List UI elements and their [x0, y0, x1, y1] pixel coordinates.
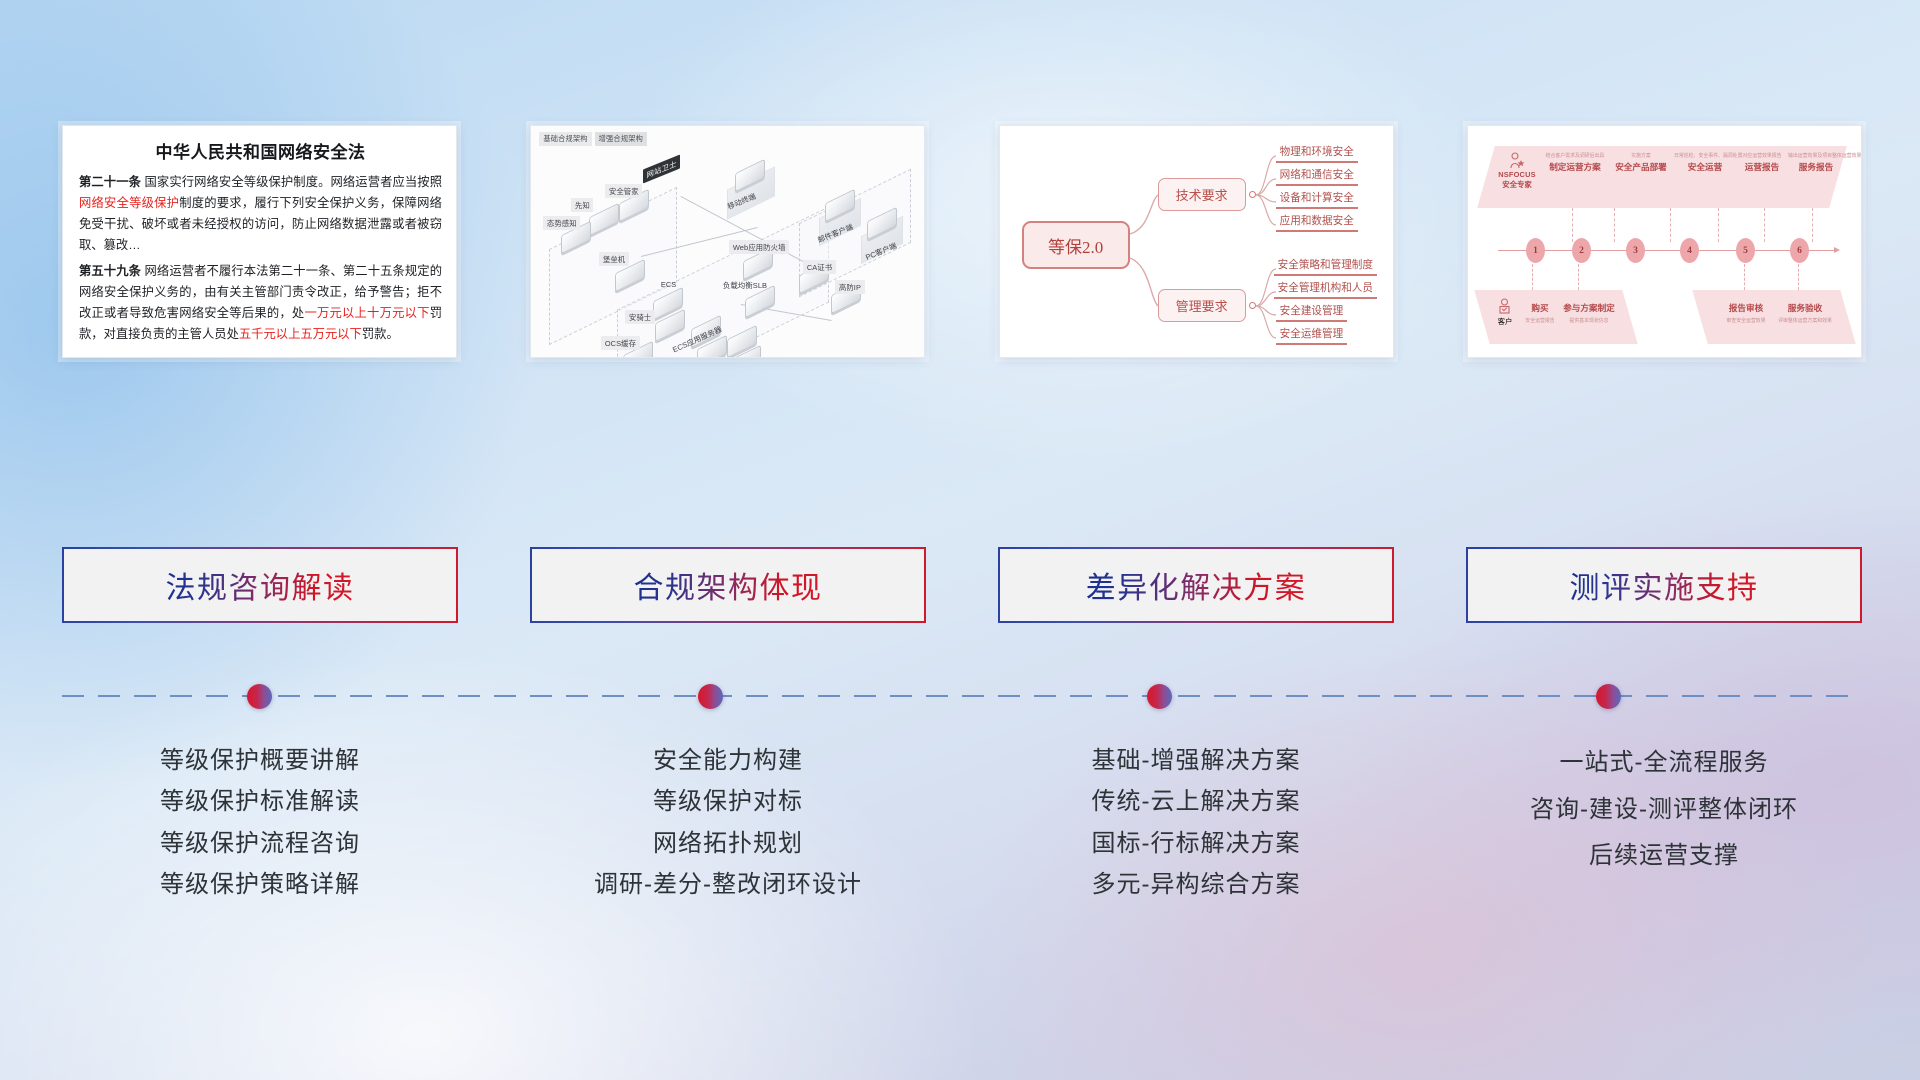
roadmap-top-step-3: 日常巡检、安全事件、漏洞处置 安全运营 [1674, 152, 1736, 173]
arch-label-xianzhi: 先知 [571, 198, 593, 212]
law-title: 中华人民共和国网络安全法 [79, 138, 442, 163]
roadmap-tick-down-5 [1744, 264, 1745, 290]
roadmap-customer-logo: 客户 [1488, 298, 1522, 327]
roadmap-top-step-4: 对应运营效果报告 运营报告 [1734, 152, 1790, 173]
roadmap-tick-1 [1572, 208, 1573, 242]
list-item: 安全能力构建 [653, 740, 803, 781]
article-59-highlight-2: 五千元以上五万元以下 [239, 327, 362, 341]
roadmap-customer-role: 客户 [1488, 316, 1522, 327]
detail-column-3: 基础-增强解决方案 传统-云上解决方案 国标-行标解决方案 多元-异构综合方案 [998, 740, 1394, 980]
roadmap-bottom-step-3-sub: 审查安全运营效果 [1720, 317, 1772, 324]
article-21-text-1: 国家实行网络安全等级保护制度。网络运营者应当按照 [145, 175, 442, 189]
arch-label-ca: CA证书 [803, 260, 835, 274]
roadmap-tick-4 [1718, 208, 1719, 242]
roadmap-brand-role: 安全专家 [1492, 179, 1542, 190]
roadmap-tick-down-2 [1578, 264, 1579, 290]
article-21-label: 第二十一条 [79, 175, 141, 189]
roadmap-bottom-step-2-title: 参与方案制定 [1560, 302, 1618, 314]
arch-label-website-guard: 网站卫士 [643, 155, 680, 184]
arch-label-slb: 负载均衡SLB [719, 278, 770, 292]
roadmap-bottom-step-1-title: 购买 [1520, 302, 1560, 314]
roadmap-top-step-2-title: 安全产品部署 [1610, 161, 1672, 173]
roadmap-tick-2 [1614, 208, 1615, 242]
roadmap-axis-arrow-icon [1834, 247, 1840, 253]
roadmap-top-step-3-title: 安全运营 [1674, 161, 1736, 173]
law-article-21: 第二十一条 国家实行网络安全等级保护制度。网络运营者应当按照网络安全等级保护制度… [79, 172, 442, 257]
mindmap-connectors [1000, 126, 1394, 358]
roadmap-bottom-step-4-sub: 评审整体运营方案和效果 [1774, 317, 1836, 324]
list-item: 基础-增强解决方案 [1092, 740, 1301, 781]
roadmap-brand-name: NSFOCUS [1492, 170, 1542, 179]
expert-person-icon [1509, 152, 1525, 169]
arch-label-waf: Web应用防火墙 [729, 240, 789, 254]
list-item: 调研-差分-整改闭环设计 [594, 864, 862, 905]
roadmap-top-step-4-title: 运营报告 [1734, 161, 1790, 173]
card-assessment-roadmap[interactable]: NSFOCUS 安全专家 结合客户需求及调研后出具 制定运营方案 实施方案 安全… [1467, 125, 1862, 358]
roadmap-top-step-2-sub: 实施方案 [1610, 152, 1672, 159]
roadmap-bottom-step-3: 报告审核 审查安全运营效果 [1720, 302, 1772, 326]
roadmap-top-step-1-sub: 结合客户需求及调研后出具 [1544, 152, 1606, 159]
pill-regulation-consulting[interactable]: 法规咨询解读 [62, 547, 458, 623]
card-dengbao-mindmap[interactable]: 等保2.0 技术要求 物理和环境安全 网络和通信安全 设备和计算安全 应用和数据… [999, 125, 1394, 358]
pill-label-3: 差异化解决方案 [1086, 563, 1307, 607]
arch-label-situation-awareness: 态势感知 [543, 216, 580, 230]
list-item: 传统-云上解决方案 [1092, 781, 1301, 822]
arch-label-bastion: 堡垒机 [599, 252, 628, 266]
preview-cards-row: 中华人民共和国网络安全法 第二十一条 国家实行网络安全等级保护制度。网络运营者应… [62, 125, 1862, 360]
customer-person-icon [1497, 298, 1512, 315]
roadmap-tick-6 [1812, 208, 1813, 242]
roadmap-tick-down-6 [1798, 264, 1799, 290]
law-article-59: 第五十九条 网络运营者不履行本法第二十一条、第二十五条规定的网络安全保护义务的，… [79, 261, 442, 346]
roadmap-top-step-4-sub: 对应运营效果报告 [1734, 152, 1790, 159]
arch-label-highdefense-ip: 高防IP [835, 280, 864, 294]
article-21-highlight: 网络安全等级保护 [79, 196, 179, 210]
arch-tab-enhanced[interactable]: 增强合规架构 [595, 132, 647, 146]
roadmap-bottom-step-3-title: 报告审核 [1720, 302, 1772, 314]
roadmap-number-6: 6 [1790, 238, 1809, 263]
timeline-dot-1[interactable] [247, 684, 272, 709]
roadmap-top-step-5-title: 服务报告 [1788, 161, 1844, 173]
timeline-dot-3[interactable] [1147, 684, 1172, 709]
roadmap-top-step-5: 输出运营效果及项目整体运营效果 服务报告 [1788, 152, 1844, 173]
roadmap-bottom-step-2-sub: 提供基本现状信息 [1560, 317, 1618, 324]
pill-label-1: 法规咨询解读 [166, 563, 355, 607]
timeline-dot-2[interactable] [698, 684, 723, 709]
roadmap-bottom-step-1-sub: 安全运营报告 [1520, 317, 1560, 324]
detail-column-1: 等级保护概要讲解 等级保护标准解读 等级保护流程咨询 等级保护策略详解 [62, 740, 458, 980]
arch-label-ocs: OCS缓存 [601, 336, 639, 350]
detail-column-4: 一站式-全流程服务 咨询-建设-测评整体闭环 后续运营支撑 [1466, 740, 1862, 980]
arch-label-ecs: ECS [657, 278, 680, 290]
arch-label-security-butler: 安全管家 [605, 184, 642, 198]
roadmap-top-step-1: 结合客户需求及调研后出具 制定运营方案 [1544, 152, 1606, 173]
roadmap-top-step-2: 实施方案 安全产品部署 [1610, 152, 1672, 173]
roadmap-number-4: 4 [1680, 238, 1699, 263]
pill-label-2: 合规架构体现 [634, 563, 823, 607]
list-item: 国标-行标解决方案 [1092, 823, 1301, 864]
roadmap-bottom-step-4: 服务验收 评审整体运营方案和效果 [1774, 302, 1836, 326]
roadmap-top-step-5-sub: 输出运营效果及项目整体运营效果 [1788, 152, 1844, 159]
roadmap-bottom-step-2: 参与方案制定 提供基本现状信息 [1560, 302, 1618, 326]
roadmap-number-5: 5 [1736, 238, 1755, 263]
list-item: 多元-异构综合方案 [1092, 864, 1301, 905]
article-59-text-3: 罚款。 [362, 327, 399, 341]
list-item: 等级保护流程咨询 [160, 823, 360, 864]
roadmap-tick-down-1 [1532, 264, 1533, 290]
list-item: 一站式-全流程服务 [1560, 740, 1769, 787]
pill-differentiated-solution[interactable]: 差异化解决方案 [998, 547, 1394, 623]
list-item: 等级保护标准解读 [160, 781, 360, 822]
list-item: 等级保护概要讲解 [160, 740, 360, 781]
list-item: 等级保护策略详解 [160, 864, 360, 905]
arch-tab-basic[interactable]: 基础合规架构 [539, 132, 591, 146]
arch-label-anqishi: 安骑士 [625, 310, 654, 324]
detail-lists-row: 等级保护概要讲解 等级保护标准解读 等级保护流程咨询 等级保护策略详解 安全能力… [62, 740, 1862, 980]
roadmap-bottom-step-4-title: 服务验收 [1774, 302, 1836, 314]
pill-compliance-architecture[interactable]: 合规架构体现 [530, 547, 926, 623]
roadmap-tick-5 [1764, 208, 1765, 242]
card-cybersecurity-law[interactable]: 中华人民共和国网络安全法 第二十一条 国家实行网络安全等级保护制度。网络运营者应… [62, 125, 457, 358]
pill-label-4: 测评实施支持 [1570, 563, 1759, 607]
roadmap-tick-3 [1670, 208, 1671, 242]
roadmap-bottom-step-1: 购买 安全运营报告 [1520, 302, 1560, 326]
arch-label-oss: OSS [793, 356, 816, 358]
roadmap-expert-logo: NSFOCUS 安全专家 [1492, 152, 1542, 190]
slide-root: 中华人民共和国网络安全法 第二十一条 国家实行网络安全等级保护制度。网络运营者应… [0, 0, 1920, 1080]
list-item: 等级保护对标 [653, 781, 803, 822]
article-59-label: 第五十九条 [79, 264, 141, 278]
pill-assessment-support[interactable]: 测评实施支持 [1466, 547, 1862, 623]
roadmap-number-1: 1 [1526, 238, 1545, 263]
detail-column-2: 安全能力构建 等级保护对标 网络拓扑规划 调研-差分-整改闭环设计 [530, 740, 926, 980]
roadmap-top-step-1-title: 制定运营方案 [1544, 161, 1606, 173]
card-compliance-architecture[interactable]: 基础合规架构 增强合规架构 移动终端 邮件客户端 PC客户端 网站卫士 [530, 125, 925, 358]
article-59-highlight-1: 一万元以上十万元以下 [304, 306, 429, 320]
roadmap-number-2: 2 [1572, 238, 1591, 263]
list-item: 咨询-建设-测评整体闭环 [1530, 787, 1798, 834]
roadmap-number-3: 3 [1626, 238, 1645, 263]
roadmap-top-step-3-sub: 日常巡检、安全事件、漏洞处置 [1674, 152, 1736, 159]
roadmap-axis [1498, 250, 1834, 251]
section-headers-row: 法规咨询解读 合规架构体现 差异化解决方案 测评实施支持 [62, 547, 1862, 623]
list-item: 后续运营支撑 [1589, 833, 1739, 880]
architecture-tabs: 基础合规架构 增强合规架构 [539, 132, 647, 146]
timeline-dot-4[interactable] [1596, 684, 1621, 709]
list-item: 网络拓扑规划 [653, 823, 803, 864]
timeline-track [62, 695, 1862, 697]
